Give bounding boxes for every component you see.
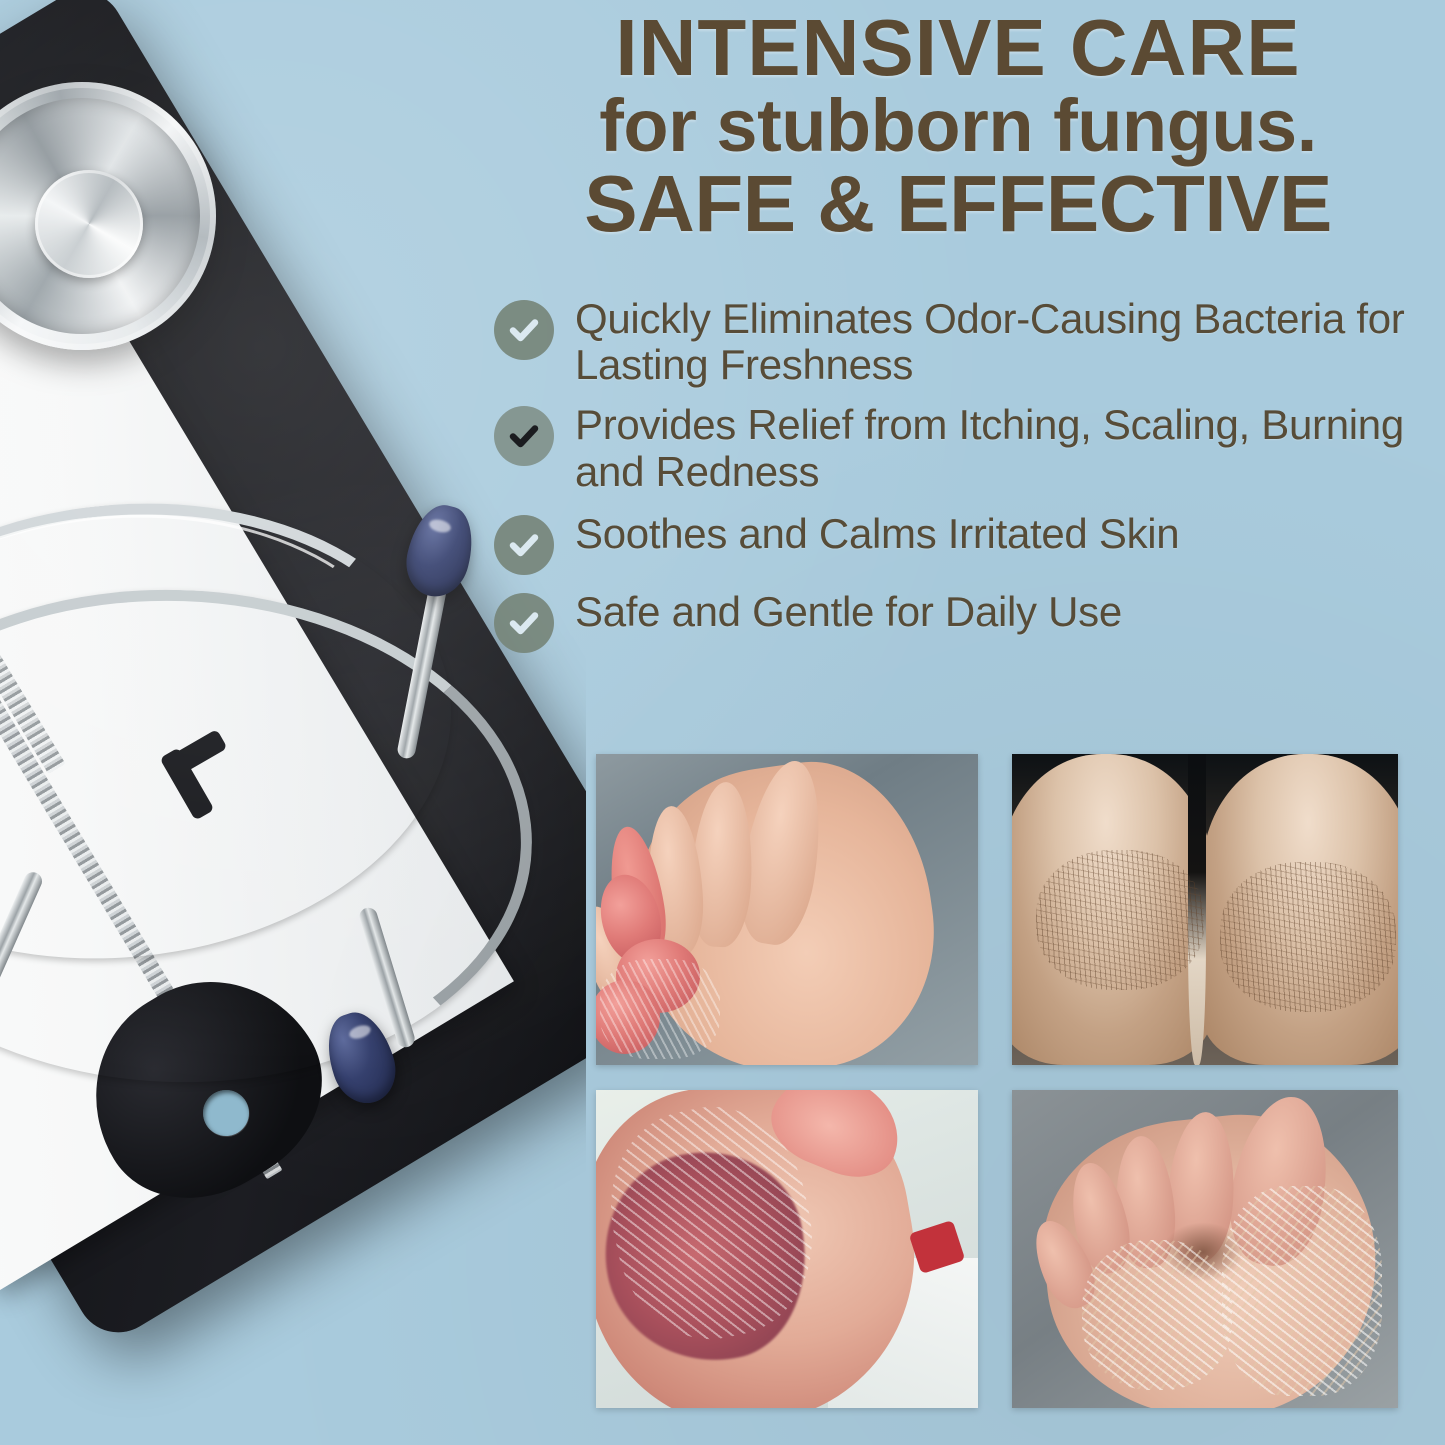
- condition-photo-bottom-left: [596, 1090, 978, 1408]
- benefit-item: Safe and Gentle for Daily Use: [494, 589, 1444, 653]
- check-circle-icon: [494, 300, 554, 360]
- condition-photo-top-left: [596, 754, 978, 1065]
- check-circle-icon: [494, 515, 554, 575]
- benefits-list: Quickly Eliminates Odor-Causing Bacteria…: [494, 296, 1444, 667]
- benefit-text: Provides Relief from Itching, Scaling, B…: [575, 402, 1444, 494]
- headline-line-1: INTENSIVE CARE: [486, 8, 1430, 87]
- benefit-text: Safe and Gentle for Daily Use: [575, 589, 1122, 635]
- product-infographic: INTENSIVE CARE for stubborn fungus. SAFE…: [0, 0, 1445, 1445]
- headline-block: INTENSIVE CARE for stubborn fungus. SAFE…: [486, 8, 1430, 244]
- check-circle-icon: [494, 406, 554, 466]
- headline-line-2: for stubborn fungus.: [486, 89, 1430, 162]
- benefit-item: Quickly Eliminates Odor-Causing Bacteria…: [494, 296, 1444, 388]
- check-circle-icon: [494, 593, 554, 653]
- condition-photo-grid: [596, 754, 1398, 1408]
- condition-photo-top-right: [1012, 754, 1398, 1065]
- condition-photo-bottom-right: [1012, 1090, 1398, 1408]
- headline-line-3: SAFE & EFFECTIVE: [486, 164, 1430, 243]
- benefit-text: Quickly Eliminates Odor-Causing Bacteria…: [575, 296, 1444, 388]
- benefit-text: Soothes and Calms Irritated Skin: [575, 511, 1179, 557]
- benefit-item: Soothes and Calms Irritated Skin: [494, 511, 1444, 575]
- benefit-item: Provides Relief from Itching, Scaling, B…: [494, 402, 1444, 494]
- stethoscope-diaphragm-hub: [35, 170, 143, 278]
